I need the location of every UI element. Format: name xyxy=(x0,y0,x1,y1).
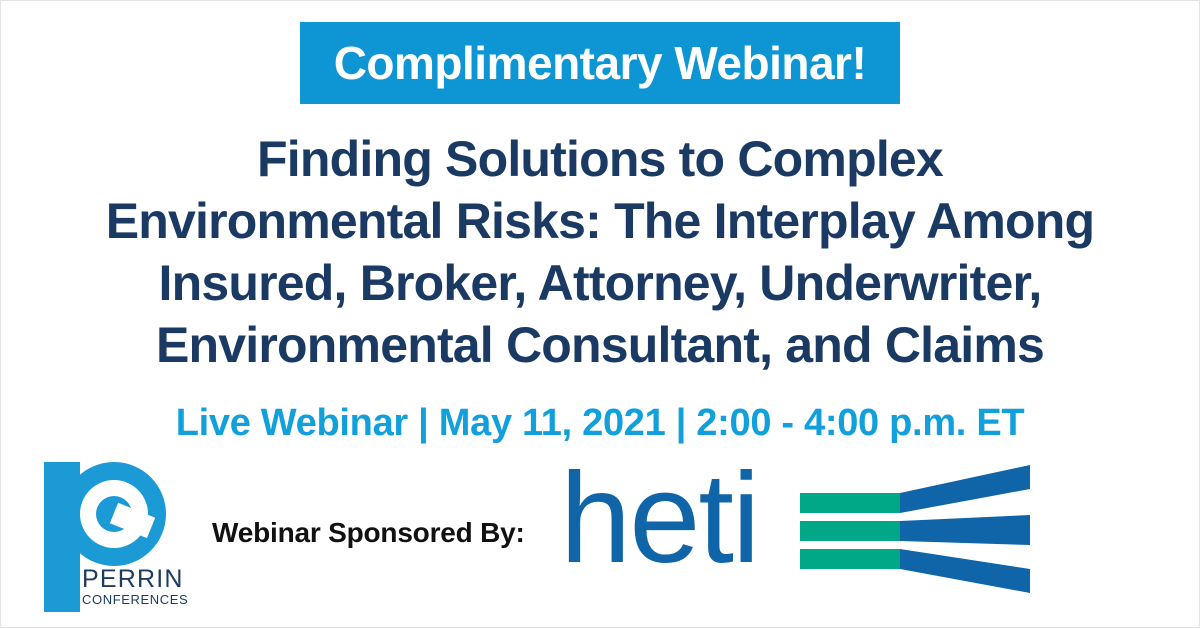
perrin-logo-name: PERRIN xyxy=(82,567,188,592)
title-line-4: Environmental Consultant, and Claims xyxy=(0,314,1200,376)
title-line-1: Finding Solutions to Complex xyxy=(0,128,1200,190)
webinar-promo-poster: Complimentary Webinar! Finding Solutions… xyxy=(0,0,1200,628)
heti-sponsor-logo: heti xyxy=(560,463,1030,603)
perrin-logo-text: PERRIN CONFERENCES xyxy=(82,567,188,607)
page-title: Finding Solutions to Complex Environment… xyxy=(0,128,1200,376)
perrin-conferences-logo: PERRIN CONFERENCES xyxy=(44,457,170,617)
title-line-2: Environmental Risks: The Interplay Among xyxy=(0,190,1200,252)
sponsor-label: Webinar Sponsored By: xyxy=(212,517,525,549)
footer-row: PERRIN CONFERENCES Webinar Sponsored By:… xyxy=(0,455,1200,628)
heti-bars-icon xyxy=(800,463,1030,595)
complimentary-webinar-banner: Complimentary Webinar! xyxy=(300,22,901,104)
event-dateline: Live Webinar | May 11, 2021 | 2:00 - 4:0… xyxy=(0,402,1200,445)
heti-wordmark: heti xyxy=(560,449,758,589)
title-line-3: Insured, Broker, Attorney, Underwriter, xyxy=(0,252,1200,314)
banner-row: Complimentary Webinar! xyxy=(0,22,1200,104)
perrin-logo-subtitle: CONFERENCES xyxy=(82,592,188,607)
